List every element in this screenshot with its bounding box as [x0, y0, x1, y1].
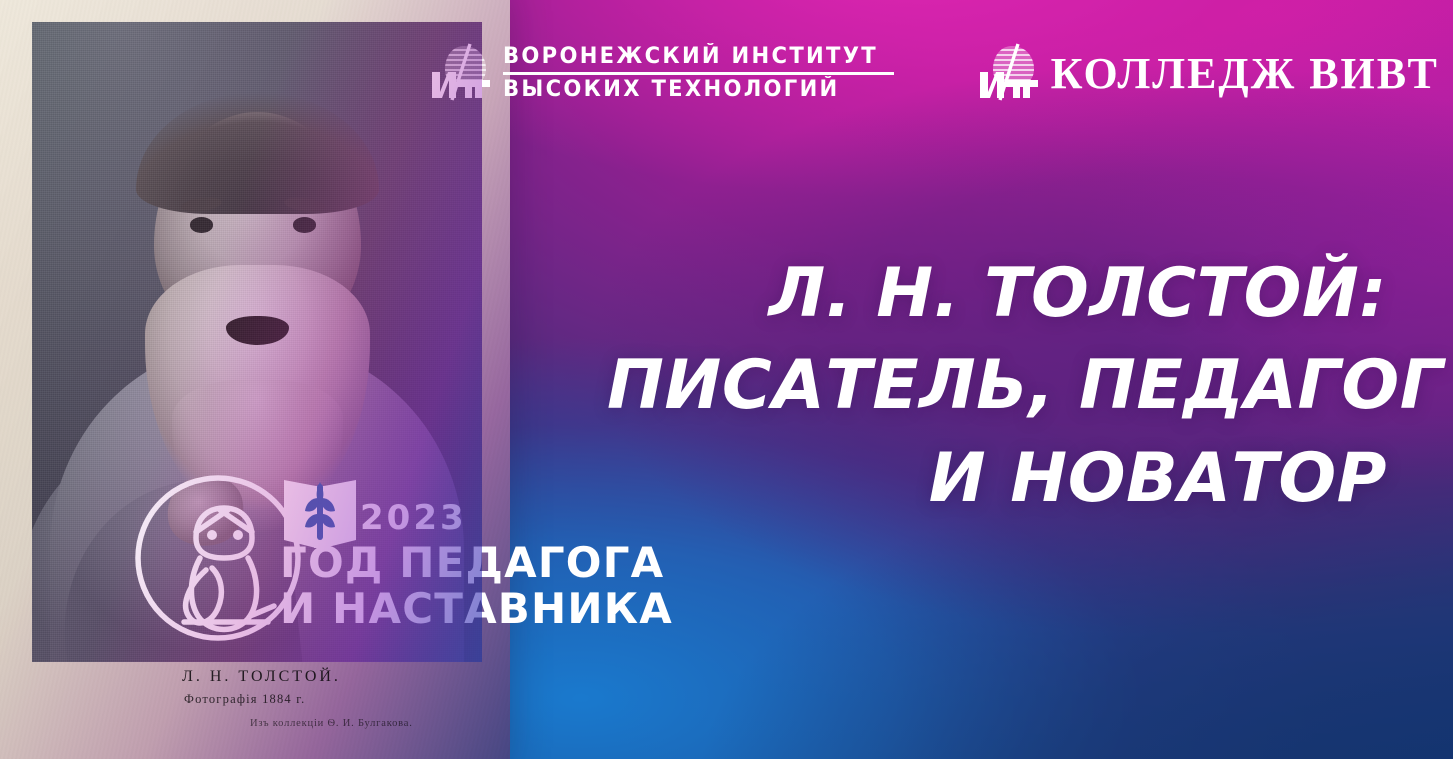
logo-college-vivt[interactable]: КОЛЛЕДЖ ВИВТ	[978, 42, 1439, 104]
caption-name: Л. Н. ТОЛСТОЙ.	[182, 668, 484, 686]
vivt-dome-monogram-icon	[978, 42, 1040, 104]
voronezh-institute-wordmark: ВОРОНЕЖСКИЙ ИНСТИТУТ ВЫСОКИХ ТЕХНОЛОГИЙ	[503, 46, 894, 101]
poster-canvas: Л. Н. ТОЛСТОЙ. Фотографія 1884 г. Изъ ко…	[0, 0, 1453, 759]
poster-title: Л. Н. ТОЛСТОЙ: ПИСАТЕЛЬ, ПЕДАГОГ И НОВАТ…	[607, 248, 1387, 525]
institute-divider-rule	[503, 72, 894, 75]
portrait-color-wash	[32, 22, 482, 662]
title-line-1: Л. Н. ТОЛСТОЙ:	[607, 248, 1387, 340]
college-vivt-wordmark: КОЛЛЕДЖ ВИВТ	[1051, 48, 1439, 99]
institute-line-1: ВОРОНЕЖСКИЙ ИНСТИТУТ	[503, 46, 878, 68]
title-line-3: И НОВАТОР	[607, 433, 1387, 525]
caption-date: Фотографія 1884 г.	[184, 692, 484, 707]
caption-source: Изъ коллекціи Ѳ. И. Булгакова.	[250, 718, 484, 729]
logo-voronezh-institute[interactable]: ВОРОНЕЖСКИЙ ИНСТИТУТ ВЫСОКИХ ТЕХНОЛОГИЙ	[430, 42, 894, 104]
photo-caption-block: Л. Н. ТОЛСТОЙ. Фотографія 1884 г. Изъ ко…	[32, 668, 484, 729]
logo-row: ВОРОНЕЖСКИЙ ИНСТИТУТ ВЫСОКИХ ТЕХНОЛОГИЙ	[430, 42, 1439, 104]
institute-line-2: ВЫСОКИХ ТЕХНОЛОГИЙ	[503, 79, 878, 101]
scanned-photo-page: Л. Н. ТОЛСТОЙ. Фотографія 1884 г. Изъ ко…	[0, 0, 510, 759]
title-line-2: ПИСАТЕЛЬ, ПЕДАГОГ	[607, 340, 1387, 432]
tolstoy-portrait-photo	[32, 22, 482, 662]
